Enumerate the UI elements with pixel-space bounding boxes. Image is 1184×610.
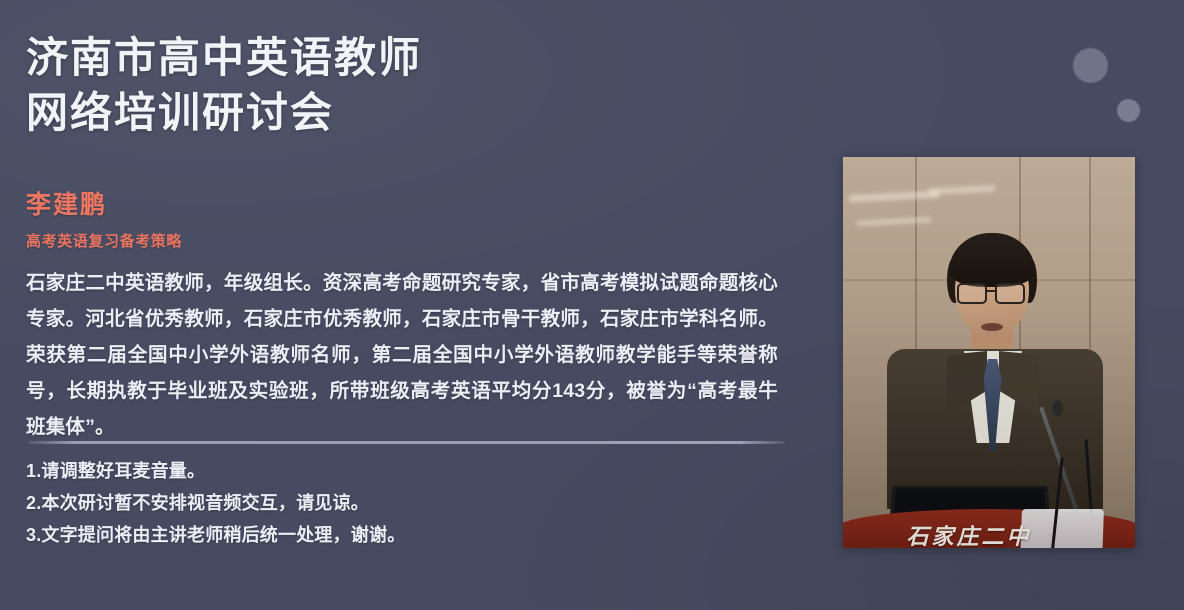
title-line-2: 网络培训研讨会	[26, 86, 806, 141]
glasses-icon	[995, 283, 1025, 304]
speaker-name: 李建鹏	[26, 185, 107, 221]
title-line-1: 济南市高中英语教师	[26, 31, 806, 86]
page-title: 济南市高中英语教师 网络培训研讨会	[26, 31, 806, 140]
microphone-head-icon	[1052, 400, 1063, 416]
section-divider	[28, 441, 785, 444]
podium-text: 石家庄二中	[879, 519, 1059, 548]
person-mouth	[981, 323, 1003, 331]
glasses-icon	[987, 290, 996, 292]
webinar-slide: 济南市高中英语教师 网络培训研讨会 李建鹏 高考英语复习备考策略 石家庄二中英语…	[0, 0, 1184, 610]
list-item: 1.请调整好耳麦音量。	[26, 455, 786, 487]
list-item: 3.文字提问将由主讲老师稍后统一处理，谢谢。	[26, 519, 786, 551]
speaker-photo: 石家庄二中	[843, 157, 1135, 548]
speaker-topic: 高考英语复习备考策略	[26, 230, 182, 251]
decorative-circle-small-icon	[1117, 99, 1140, 122]
speaker-bio: 石家庄二中英语教师，年级组长。资深高考命题研究专家，省市高考模拟试题命题核心专家…	[26, 265, 778, 445]
decorative-circle-large-icon	[1073, 48, 1108, 83]
list-item: 2.本次研讨暂不安排视音频交互，请见谅。	[26, 487, 786, 519]
glasses-icon	[957, 283, 987, 304]
notes-list: 1.请调整好耳麦音量。 2.本次研讨暂不安排视音频交互，请见谅。 3.文字提问将…	[26, 455, 786, 551]
content-column: 济南市高中英语教师 网络培训研讨会 李建鹏 高考英语复习备考策略 石家庄二中英语…	[26, 0, 816, 610]
speaker-photo-frame: 石家庄二中	[843, 157, 1135, 548]
